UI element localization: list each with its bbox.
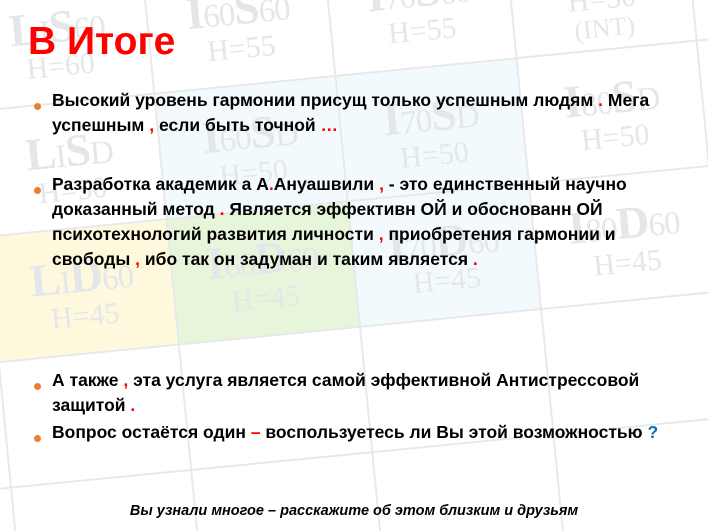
text-run: эта услуга является самой эффективной Ан… bbox=[52, 370, 639, 415]
bullet-item-3: А также , эта услуга является самой эффе… bbox=[34, 368, 674, 419]
text-run: . bbox=[130, 395, 135, 415]
text-run: ибо так он задуман и таким является bbox=[140, 249, 473, 269]
text-run: Вопрос остаётся один bbox=[52, 422, 251, 442]
text-run: – bbox=[251, 422, 261, 442]
bullet-text-1: Высокий уровень гармонии присущ только у… bbox=[52, 88, 674, 137]
presentation-slide: L60S70H=70L50S70H=70I60S70H=65I70S70H=60… bbox=[0, 0, 708, 531]
bullet-text-3: А также , эта услуга является самой эффе… bbox=[52, 368, 674, 417]
bullet-row: Разработка академик а А.Ануашвили , - эт… bbox=[34, 172, 674, 271]
text-run: ? bbox=[647, 422, 658, 442]
bullet-text-2: Разработка академик а А.Ануашвили , - эт… bbox=[52, 172, 674, 271]
bullet-dot-icon bbox=[34, 420, 52, 447]
bullet-text-4: Вопрос остаётся один – воспользуетесь ли… bbox=[52, 420, 674, 445]
bullet-item-2: Разработка академик а А.Ануашвили , - эт… bbox=[34, 172, 674, 273]
page-title: В Итоге bbox=[28, 22, 175, 63]
text-run: А также bbox=[52, 370, 123, 390]
text-run: Высокий уровень гармонии присущ только у… bbox=[52, 90, 598, 110]
text-run: … bbox=[321, 115, 339, 135]
bullet-row: Вопрос остаётся один – воспользуетесь ли… bbox=[34, 420, 674, 447]
text-run: Ануашвили bbox=[274, 174, 379, 194]
text-run: . bbox=[473, 249, 478, 269]
bullet-row: А также , эта услуга является самой эффе… bbox=[34, 368, 674, 417]
bullet-row: Высокий уровень гармонии присущ только у… bbox=[34, 88, 674, 137]
bullet-dot-icon bbox=[34, 368, 52, 395]
bullet-dot-icon bbox=[34, 172, 52, 199]
bullet-dot-icon bbox=[34, 88, 52, 115]
slide-content: В Итоге Высокий уровень гармонии присущ … bbox=[0, 0, 708, 531]
bullet-item-1: Высокий уровень гармонии присущ только у… bbox=[34, 88, 674, 139]
text-run: Разработка академик а А bbox=[52, 174, 269, 194]
text-run: воспользуетесь ли Вы этой возможностью bbox=[261, 422, 648, 442]
slide-footer: Вы узнали многое – расскажите об этом бл… bbox=[0, 503, 708, 519]
bullet-item-4: Вопрос остаётся один – воспользуетесь ли… bbox=[34, 420, 674, 449]
text-run: если быть точной bbox=[154, 115, 320, 135]
